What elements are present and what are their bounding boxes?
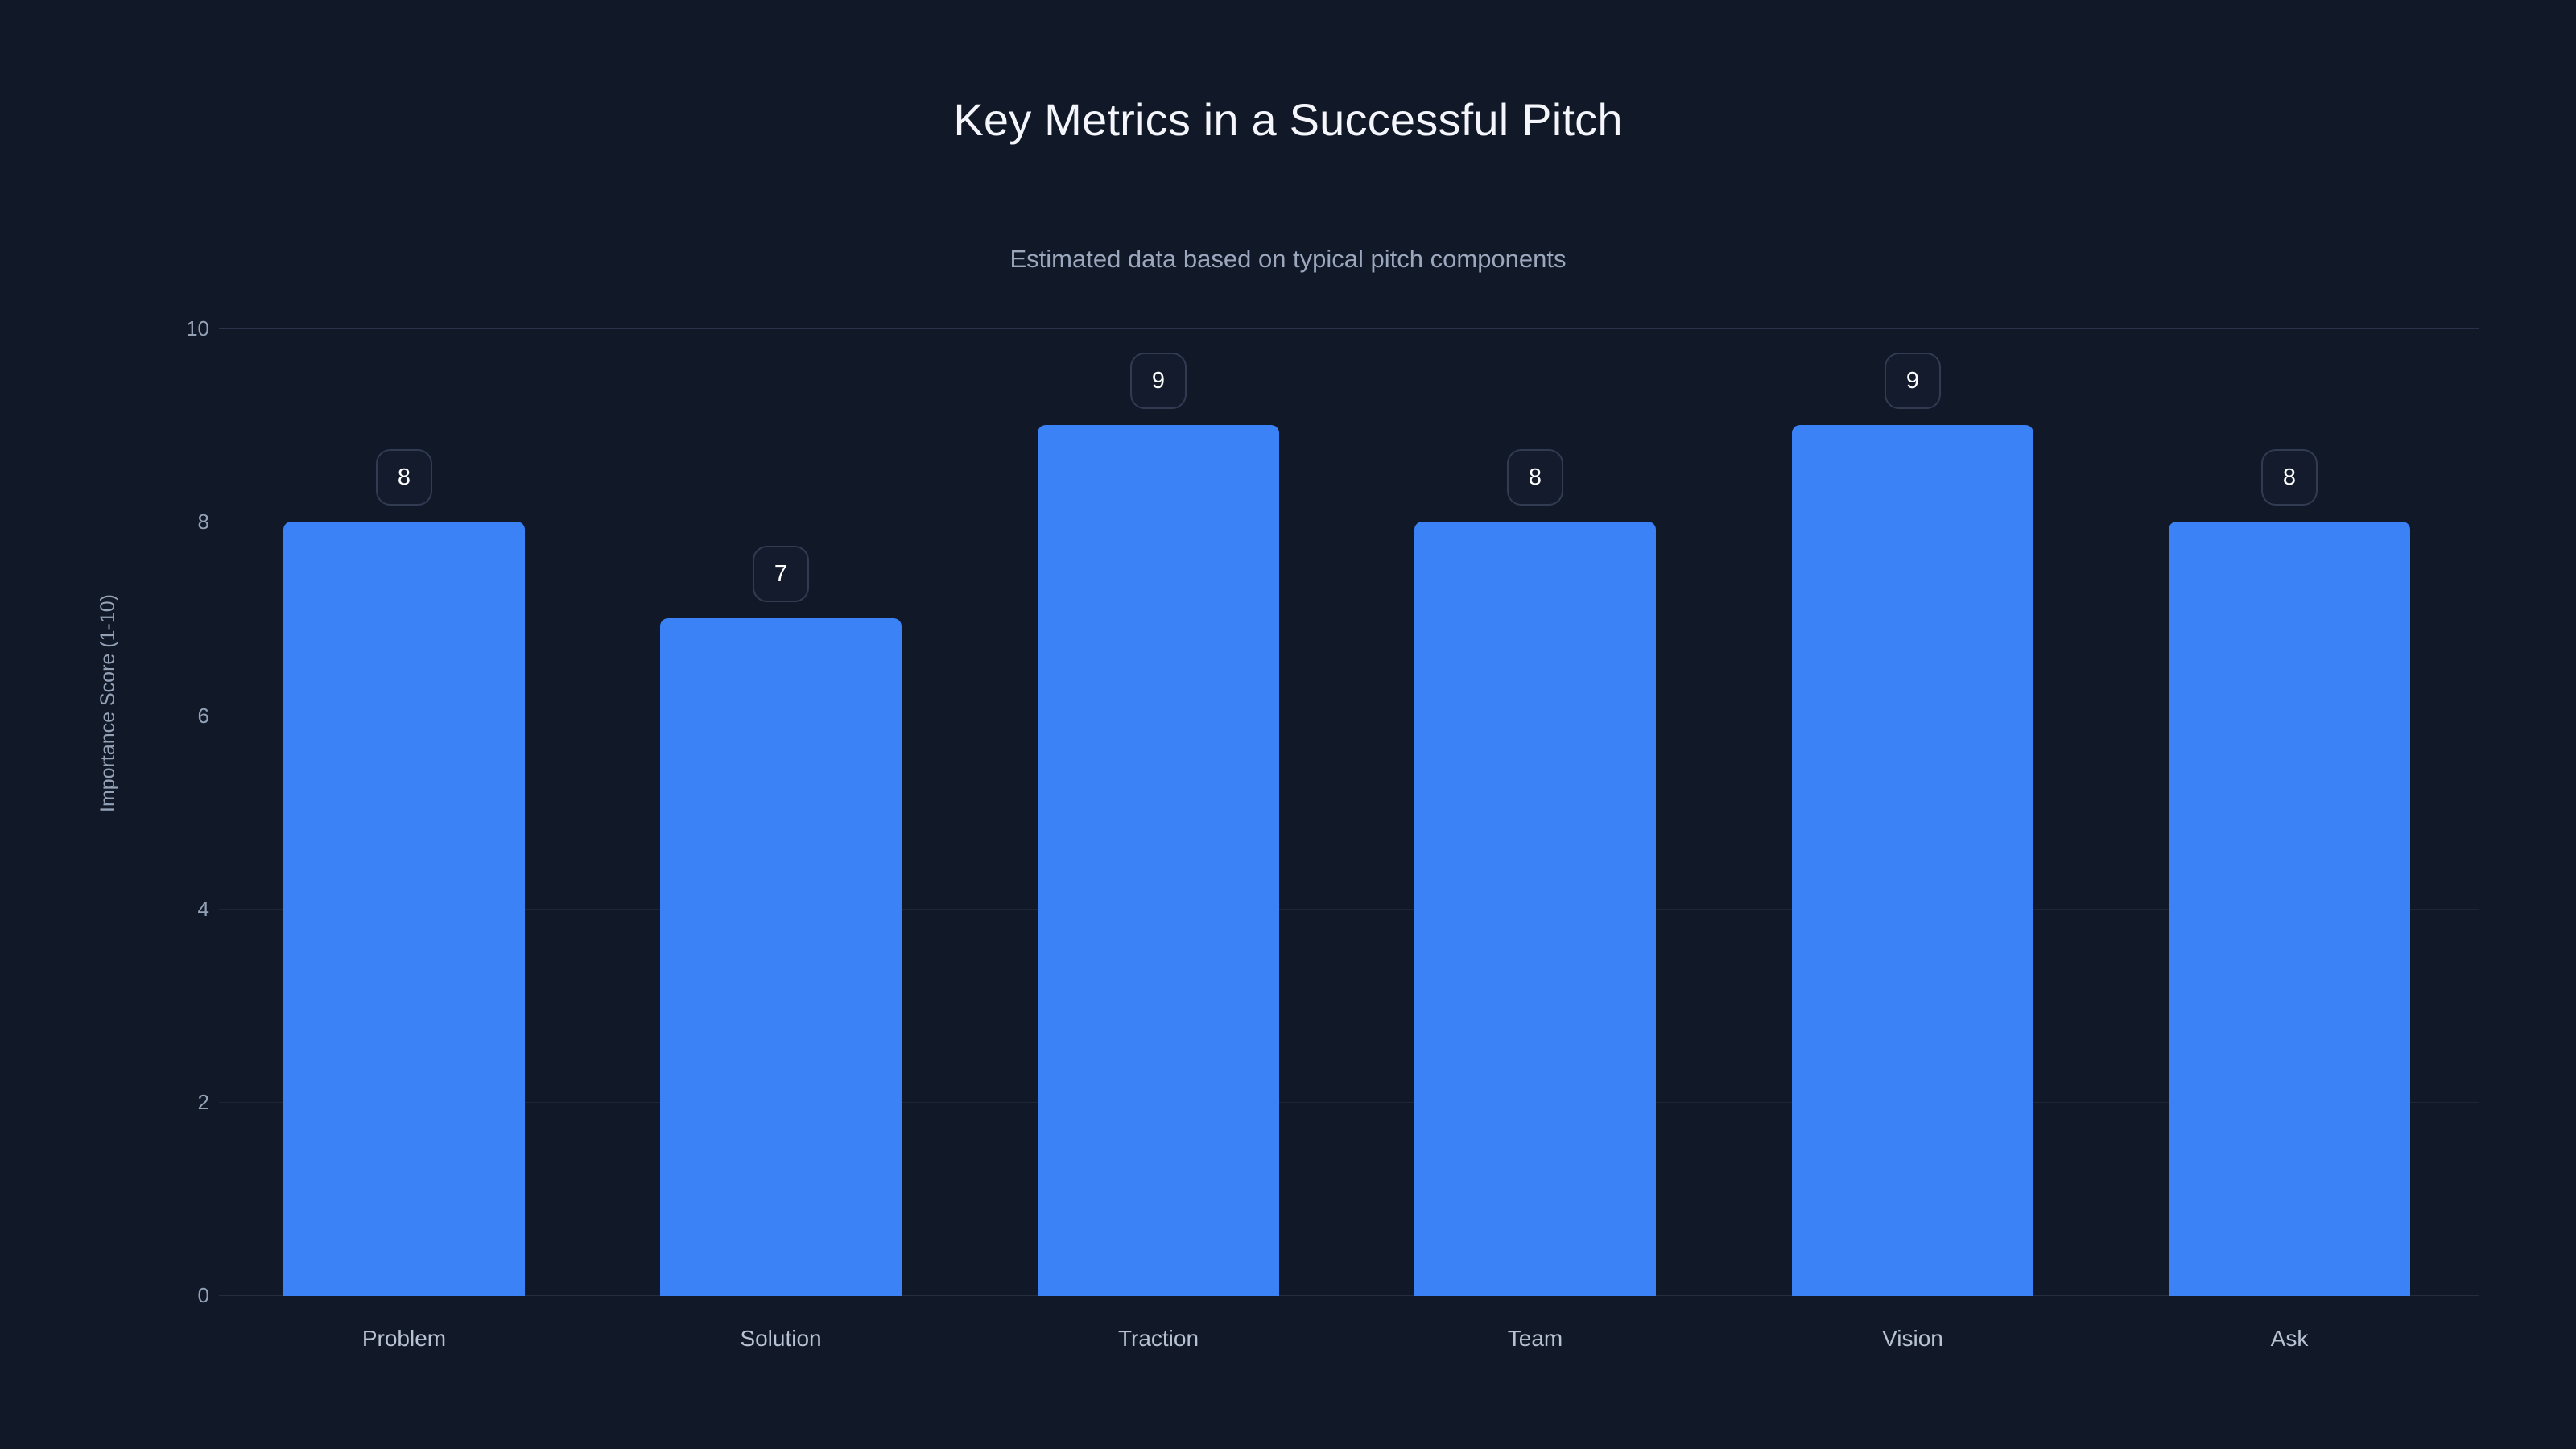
bar-problem[interactable] [283, 522, 525, 1296]
y-tick-label-8: 8 [129, 511, 209, 532]
gridline-8 [219, 522, 2479, 522]
chart-subtitle: Estimated data based on typical pitch co… [0, 244, 2576, 275]
chart-title: Key Metrics in a Successful Pitch [0, 93, 2576, 147]
value-badge-ask: 8 [2261, 449, 2318, 506]
bar-solution[interactable] [660, 618, 902, 1296]
value-badge-vision: 9 [1885, 353, 1941, 409]
plot-area [219, 328, 2479, 1296]
y-tick-label-10: 10 [129, 318, 209, 339]
x-label-problem: Problem [243, 1326, 565, 1352]
bar-vision[interactable] [1792, 425, 2033, 1296]
bar-team[interactable] [1414, 522, 1656, 1296]
y-tick-label-0: 0 [129, 1285, 209, 1306]
value-badge-team: 8 [1507, 449, 1563, 506]
x-label-traction: Traction [997, 1326, 1319, 1352]
value-badge-traction: 9 [1130, 353, 1187, 409]
x-label-vision: Vision [1752, 1326, 2074, 1352]
value-badge-solution: 7 [753, 546, 809, 602]
y-tick-label-2: 2 [129, 1092, 209, 1113]
axis-baseline [219, 1295, 2479, 1296]
x-label-ask: Ask [2128, 1326, 2450, 1352]
bar-traction[interactable] [1038, 425, 1279, 1296]
bar-chart-figure: Key Metrics in a Successful Pitch Estima… [0, 0, 2576, 1449]
x-label-solution: Solution [620, 1326, 942, 1352]
bar-ask[interactable] [2169, 522, 2410, 1296]
gridline-4 [219, 909, 2479, 910]
gridline-10 [219, 328, 2479, 329]
y-axis-title: Importance Score (1-10) [97, 594, 120, 812]
gridline-6 [219, 716, 2479, 716]
y-tick-label-6: 6 [129, 705, 209, 726]
gridline-2 [219, 1102, 2479, 1103]
y-tick-label-4: 4 [129, 898, 209, 919]
x-label-team: Team [1374, 1326, 1696, 1352]
value-badge-problem: 8 [376, 449, 432, 506]
